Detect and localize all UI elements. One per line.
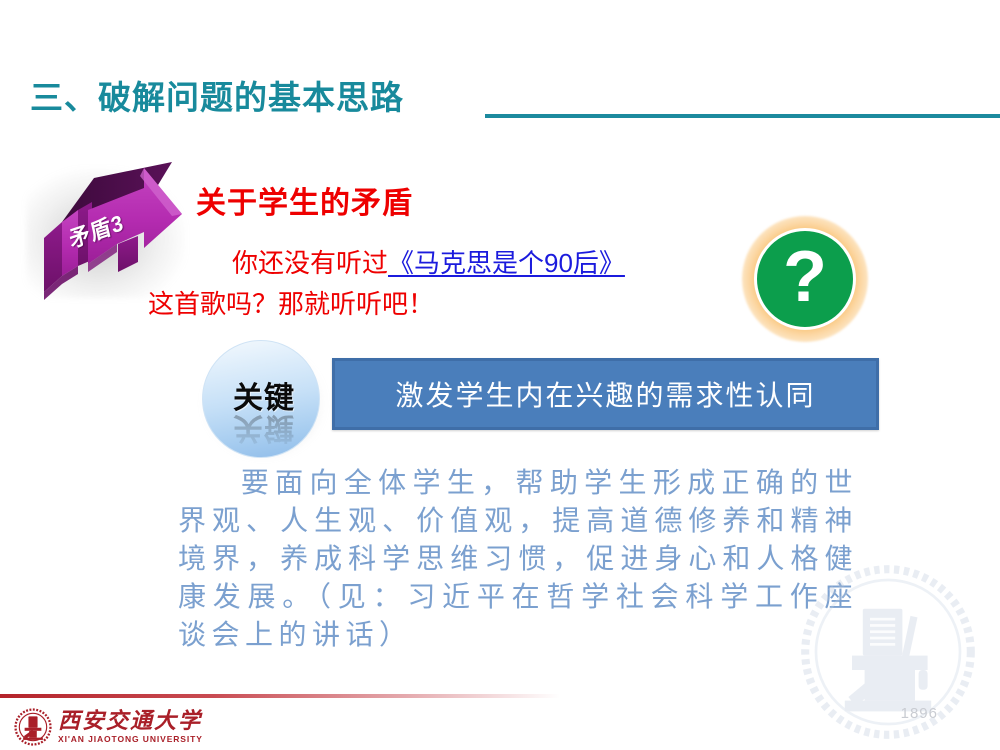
title-underline-rule [485,114,1000,118]
slide-canvas: 三、破解问题的基本思路 [0,0,1000,750]
question-mark-badge: ? [742,216,868,342]
university-logo: 西安交通大学 XI'AN JIAOTONG UNIVERSITY [14,706,203,748]
question-mark-icon: ? [783,241,827,313]
slide-title-row: 三、破解问题的基本思路 [30,78,990,126]
watermark-year: 1896 [901,705,938,722]
quote-paragraph: 要面向全体学生，帮助学生形成正确的世界观、人生观、价值观，提高道德修养和精神境界… [178,465,858,655]
key-point-circle: 关键 关键 [198,340,330,472]
key-message-banner: 激发学生内在兴趣的需求性认同 [332,358,879,430]
question-circle: ? [754,228,856,330]
page-title: 三、破解问题的基本思路 [30,78,404,118]
quote-text: 要面向全体学生，帮助学生形成正确的世界观、人生观、价值观，提高道德修养和精神境界… [178,468,858,651]
footer-divider [0,694,560,698]
logo-text-block: 西安交通大学 XI'AN JIAOTONG UNIVERSITY [58,709,203,745]
key-circle-label-reflection: 关键 [203,409,320,453]
logo-chinese-name: 西安交通大学 [58,709,203,733]
key-message-text: 激发学生内在兴趣的需求性认同 [395,374,815,414]
contradiction-line1-prefix: 你还没有听过 [232,248,388,278]
contradiction-paragraph: 你还没有听过《马克思是个90后》这首歌吗？那就听听吧！ [148,243,788,325]
section-heading-contradiction: 关于学生的矛盾 [196,178,413,222]
university-emblem-icon [14,708,52,746]
song-hyperlink[interactable]: 《马克思是个90后》 [388,248,625,278]
logo-english-name: XI'AN JIAOTONG UNIVERSITY [58,734,203,745]
key-circle-ball: 关键 关键 [202,340,320,458]
contradiction-line2: 这首歌吗？那就听听吧！ [148,289,434,319]
